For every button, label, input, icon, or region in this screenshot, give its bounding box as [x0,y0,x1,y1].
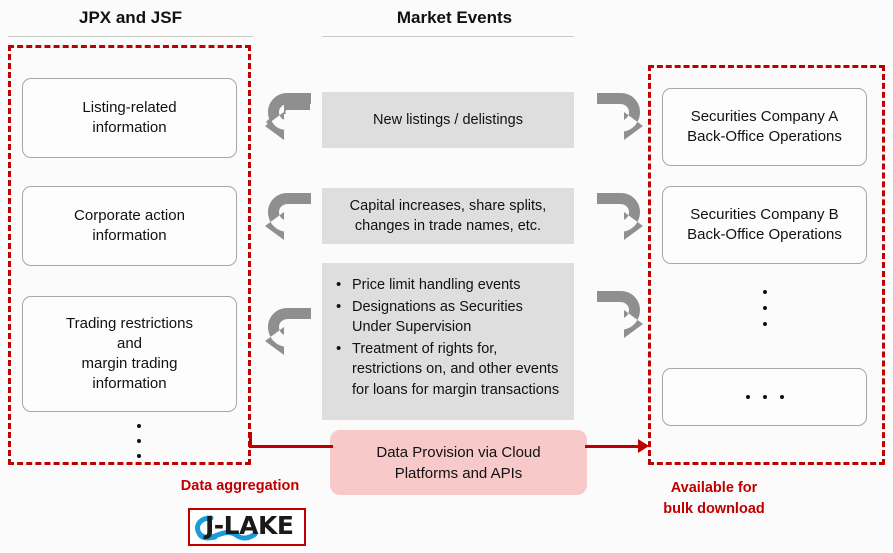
source-box-corporate-action: Corporate action information [22,186,237,266]
dot [137,439,141,443]
u-turn-arrow-right-icon [596,90,644,146]
right-group-ellipsis [762,290,768,326]
u-turn-arrow-left-icon [264,305,312,361]
diagram-canvas: JPX and JSF Market Events Listing-relate… [0,0,893,553]
u-turn-arrow-right-icon [596,190,644,246]
column-rule-middle [322,36,574,37]
dot [137,424,141,428]
flow-connector-provision-to-right [585,445,643,448]
caption-data-aggregation: Data aggregation [150,476,330,497]
data-provision-box: Data Provision via Cloud Platforms and A… [330,430,587,495]
dot [763,306,767,310]
list-item: Treatment of rights for, restrictions on… [336,339,564,401]
j-lake-logo: J-LAKE [188,508,306,546]
list-item: Designations as Securities Under Supervi… [336,297,564,338]
dot [763,322,767,326]
event-box-price-limit-bullets: Price limit handling events Designations… [322,263,574,420]
source-box-trading-restrictions: Trading restrictions and margin trading … [22,296,237,412]
u-turn-arrow-left-icon [264,90,312,146]
column-rule-left [8,36,253,37]
dot [763,290,767,294]
consumer-box-company-a: Securities Company A Back-Office Operati… [662,88,867,166]
left-group-ellipsis [136,424,142,458]
consumer-box-company-b: Securities Company B Back-Office Operati… [662,186,867,264]
dot [137,454,141,458]
list-item: Price limit handling events [336,275,564,296]
u-turn-arrow-right-icon [596,288,644,344]
arrow-right-icon [638,439,649,453]
caption-bulk-download: Available for bulk download [640,478,788,520]
column-title-left: JPX and JSF [8,8,253,28]
j-lake-logo-inner: J-LAKE [195,510,299,544]
dot [780,395,784,399]
consumer-box-more [662,368,867,426]
horizontal-ellipsis [746,395,784,399]
flow-connector-left-to-provision [249,445,333,448]
u-turn-arrow-left-icon [264,190,312,246]
column-title-middle: Market Events [322,8,587,28]
dot [746,395,750,399]
event-bullet-list: Price limit handling events Designations… [336,275,564,401]
event-box-new-listings: New listings / delistings [322,92,574,148]
j-lake-logo-text: J-LAKE [205,511,293,540]
event-box-capital-increases: Capital increases, share splits, changes… [322,188,574,244]
source-box-listing: Listing-related information [22,78,237,158]
dot [763,395,767,399]
